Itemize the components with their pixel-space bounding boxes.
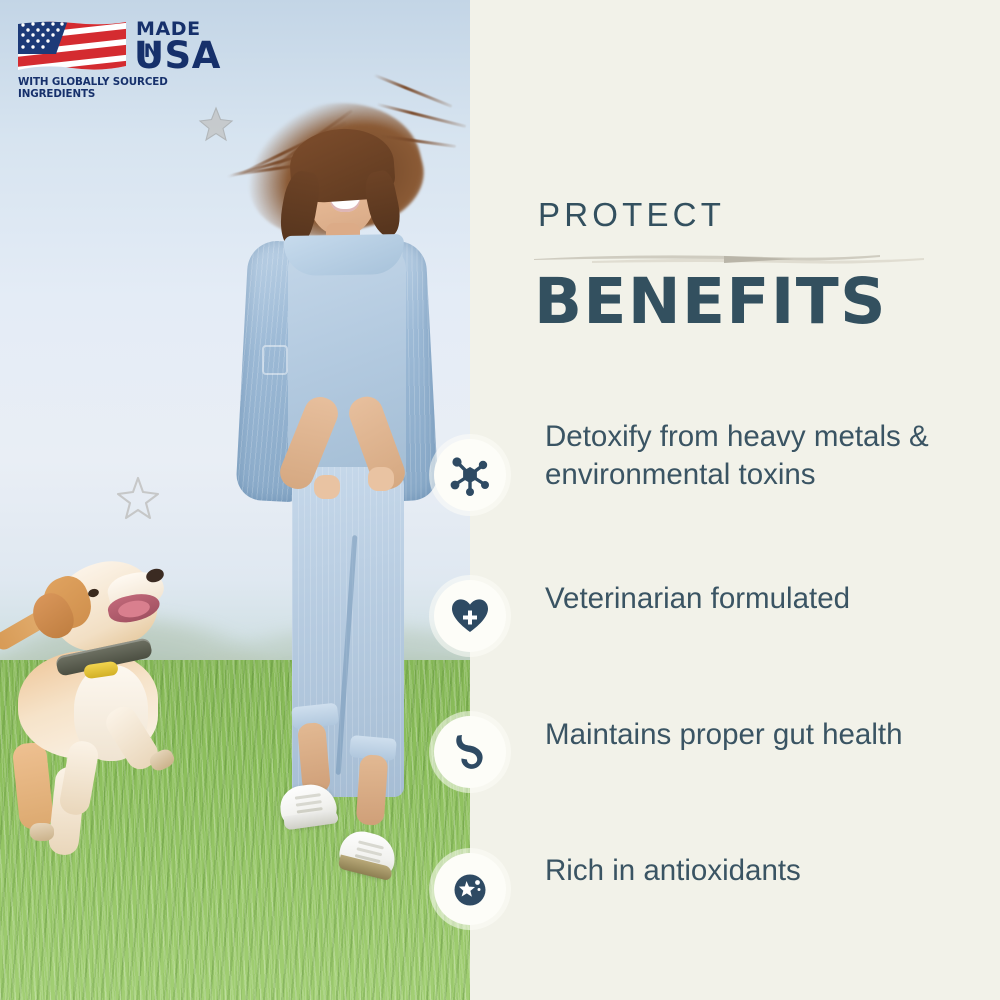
berry-star-icon <box>434 853 506 925</box>
heart-plus-icon <box>434 580 506 652</box>
stomach-icon <box>434 716 506 788</box>
marketing-banner: MADE IN USA WITH GLOBALLY SOURCED INGRED… <box>0 0 1000 1000</box>
benefits-panel: PROTECT BENEFITS Detoxify from heavy met… <box>470 0 1000 1000</box>
page-title: BENEFITS <box>534 265 887 338</box>
benefit-label-4: Rich in antioxidants <box>545 852 975 890</box>
benefit-label-1: Detoxify from heavy metals & environment… <box>545 418 975 494</box>
made-in-usa-badge: MADE IN USA WITH GLOBALLY SOURCED INGRED… <box>16 14 230 92</box>
usa-flag-icon <box>16 20 128 74</box>
dog-figure <box>0 555 215 885</box>
molecule-toxin-icon <box>434 439 506 511</box>
woman-figure <box>218 95 468 895</box>
lifestyle-photo <box>0 0 470 1000</box>
badge-country-label: USA <box>134 34 221 77</box>
kicker-title: PROTECT <box>538 196 725 234</box>
sketched-star-icon <box>112 472 164 524</box>
benefit-label-2: Veterinarian formulated <box>545 580 975 618</box>
benefit-label-3: Maintains proper gut health <box>545 716 975 754</box>
badge-disclaimer: WITH GLOBALLY SOURCED INGREDIENTS <box>18 76 230 100</box>
